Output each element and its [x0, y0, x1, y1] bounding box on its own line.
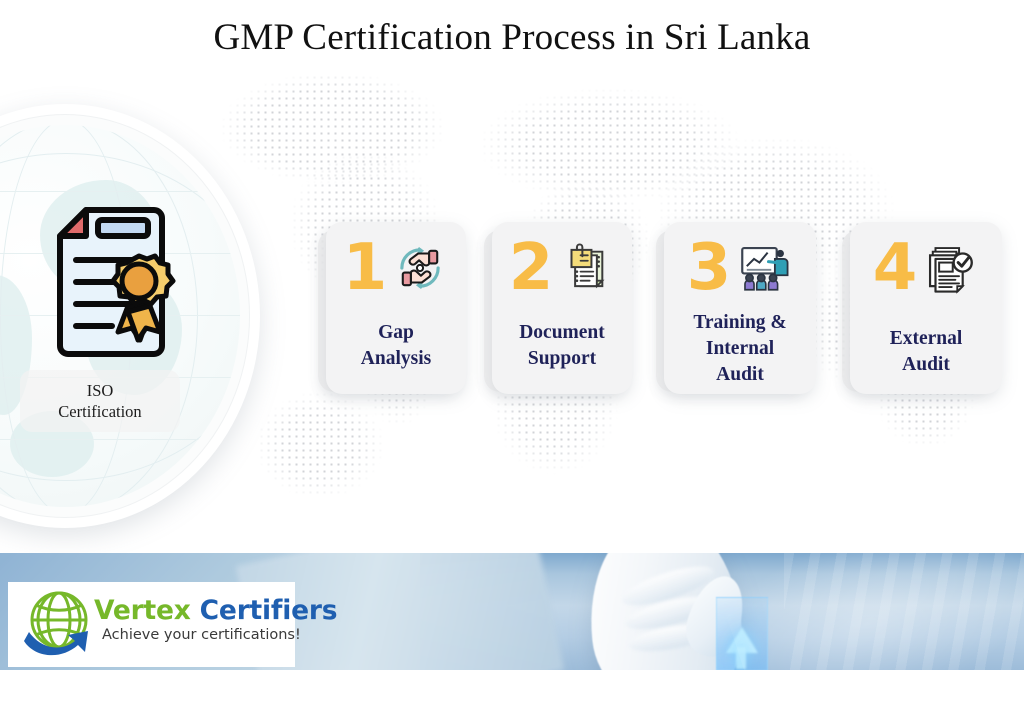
- step-card-2[interactable]: 2 Document: [492, 222, 632, 394]
- card-4-label: External Audit: [850, 326, 1002, 378]
- card-4-label-line1: External: [850, 326, 1002, 352]
- step-number-2: 2: [509, 236, 554, 300]
- bottom-white-strip: [0, 670, 1024, 724]
- step-card-3[interactable]: 3 Training & Internal: [664, 222, 816, 394]
- documents-check-icon: [921, 239, 979, 297]
- step-card-1[interactable]: 1 Gap Analysis: [326, 222, 466, 394]
- certificate-seal-icon: [46, 206, 186, 358]
- card-3-label-line3: Audit: [664, 362, 816, 388]
- step-number-1: 1: [343, 236, 388, 300]
- card-2-label: Document Support: [492, 320, 632, 372]
- card-3-label-line2: Internal: [664, 336, 816, 362]
- iso-certification-badge: ISO Certification: [0, 104, 260, 528]
- step-card-4[interactable]: 4 External Audit: [850, 222, 1002, 394]
- document-note-icon: [557, 239, 615, 297]
- footer-stripes: [784, 553, 1024, 670]
- card-1-header: 1: [326, 222, 466, 314]
- brand-name-part1: Vertex: [94, 595, 191, 626]
- card-2-label-line1: Document: [492, 320, 632, 346]
- card-3-header: 3: [664, 222, 816, 314]
- card-4-label-line2: Audit: [850, 352, 1002, 378]
- card-1-label-line2: Analysis: [326, 346, 466, 372]
- handshake-icon: [391, 239, 449, 297]
- globe-arrow-logo-icon: [18, 589, 100, 661]
- brand-logo-box[interactable]: Vertex Certifiers Achieve your certifica…: [8, 582, 295, 667]
- brand-name: Vertex Certifiers: [94, 596, 337, 626]
- brand-tagline: Achieve your certifications!: [102, 627, 301, 643]
- card-1-label: Gap Analysis: [326, 320, 466, 372]
- iso-label-line2: Certification: [58, 401, 141, 422]
- step-number-4: 4: [873, 236, 918, 300]
- step-number-3: 3: [687, 236, 732, 300]
- card-4-header: 4: [850, 222, 1002, 314]
- infographic-canvas: GMP Certification Process in Sri Lanka: [0, 0, 1024, 724]
- card-3-label: Training & Internal Audit: [664, 310, 816, 388]
- card-1-label-line1: Gap: [326, 320, 466, 346]
- card-2-header: 2: [492, 222, 632, 314]
- iso-label: ISO Certification: [20, 370, 180, 432]
- training-presentation-icon: [735, 239, 793, 297]
- brand-name-part2: Certifiers: [200, 595, 338, 626]
- iso-label-line1: ISO: [87, 380, 114, 401]
- card-3-label-line1: Training &: [664, 310, 816, 336]
- card-2-label-line2: Support: [492, 346, 632, 372]
- page-title: GMP Certification Process in Sri Lanka: [0, 16, 1024, 59]
